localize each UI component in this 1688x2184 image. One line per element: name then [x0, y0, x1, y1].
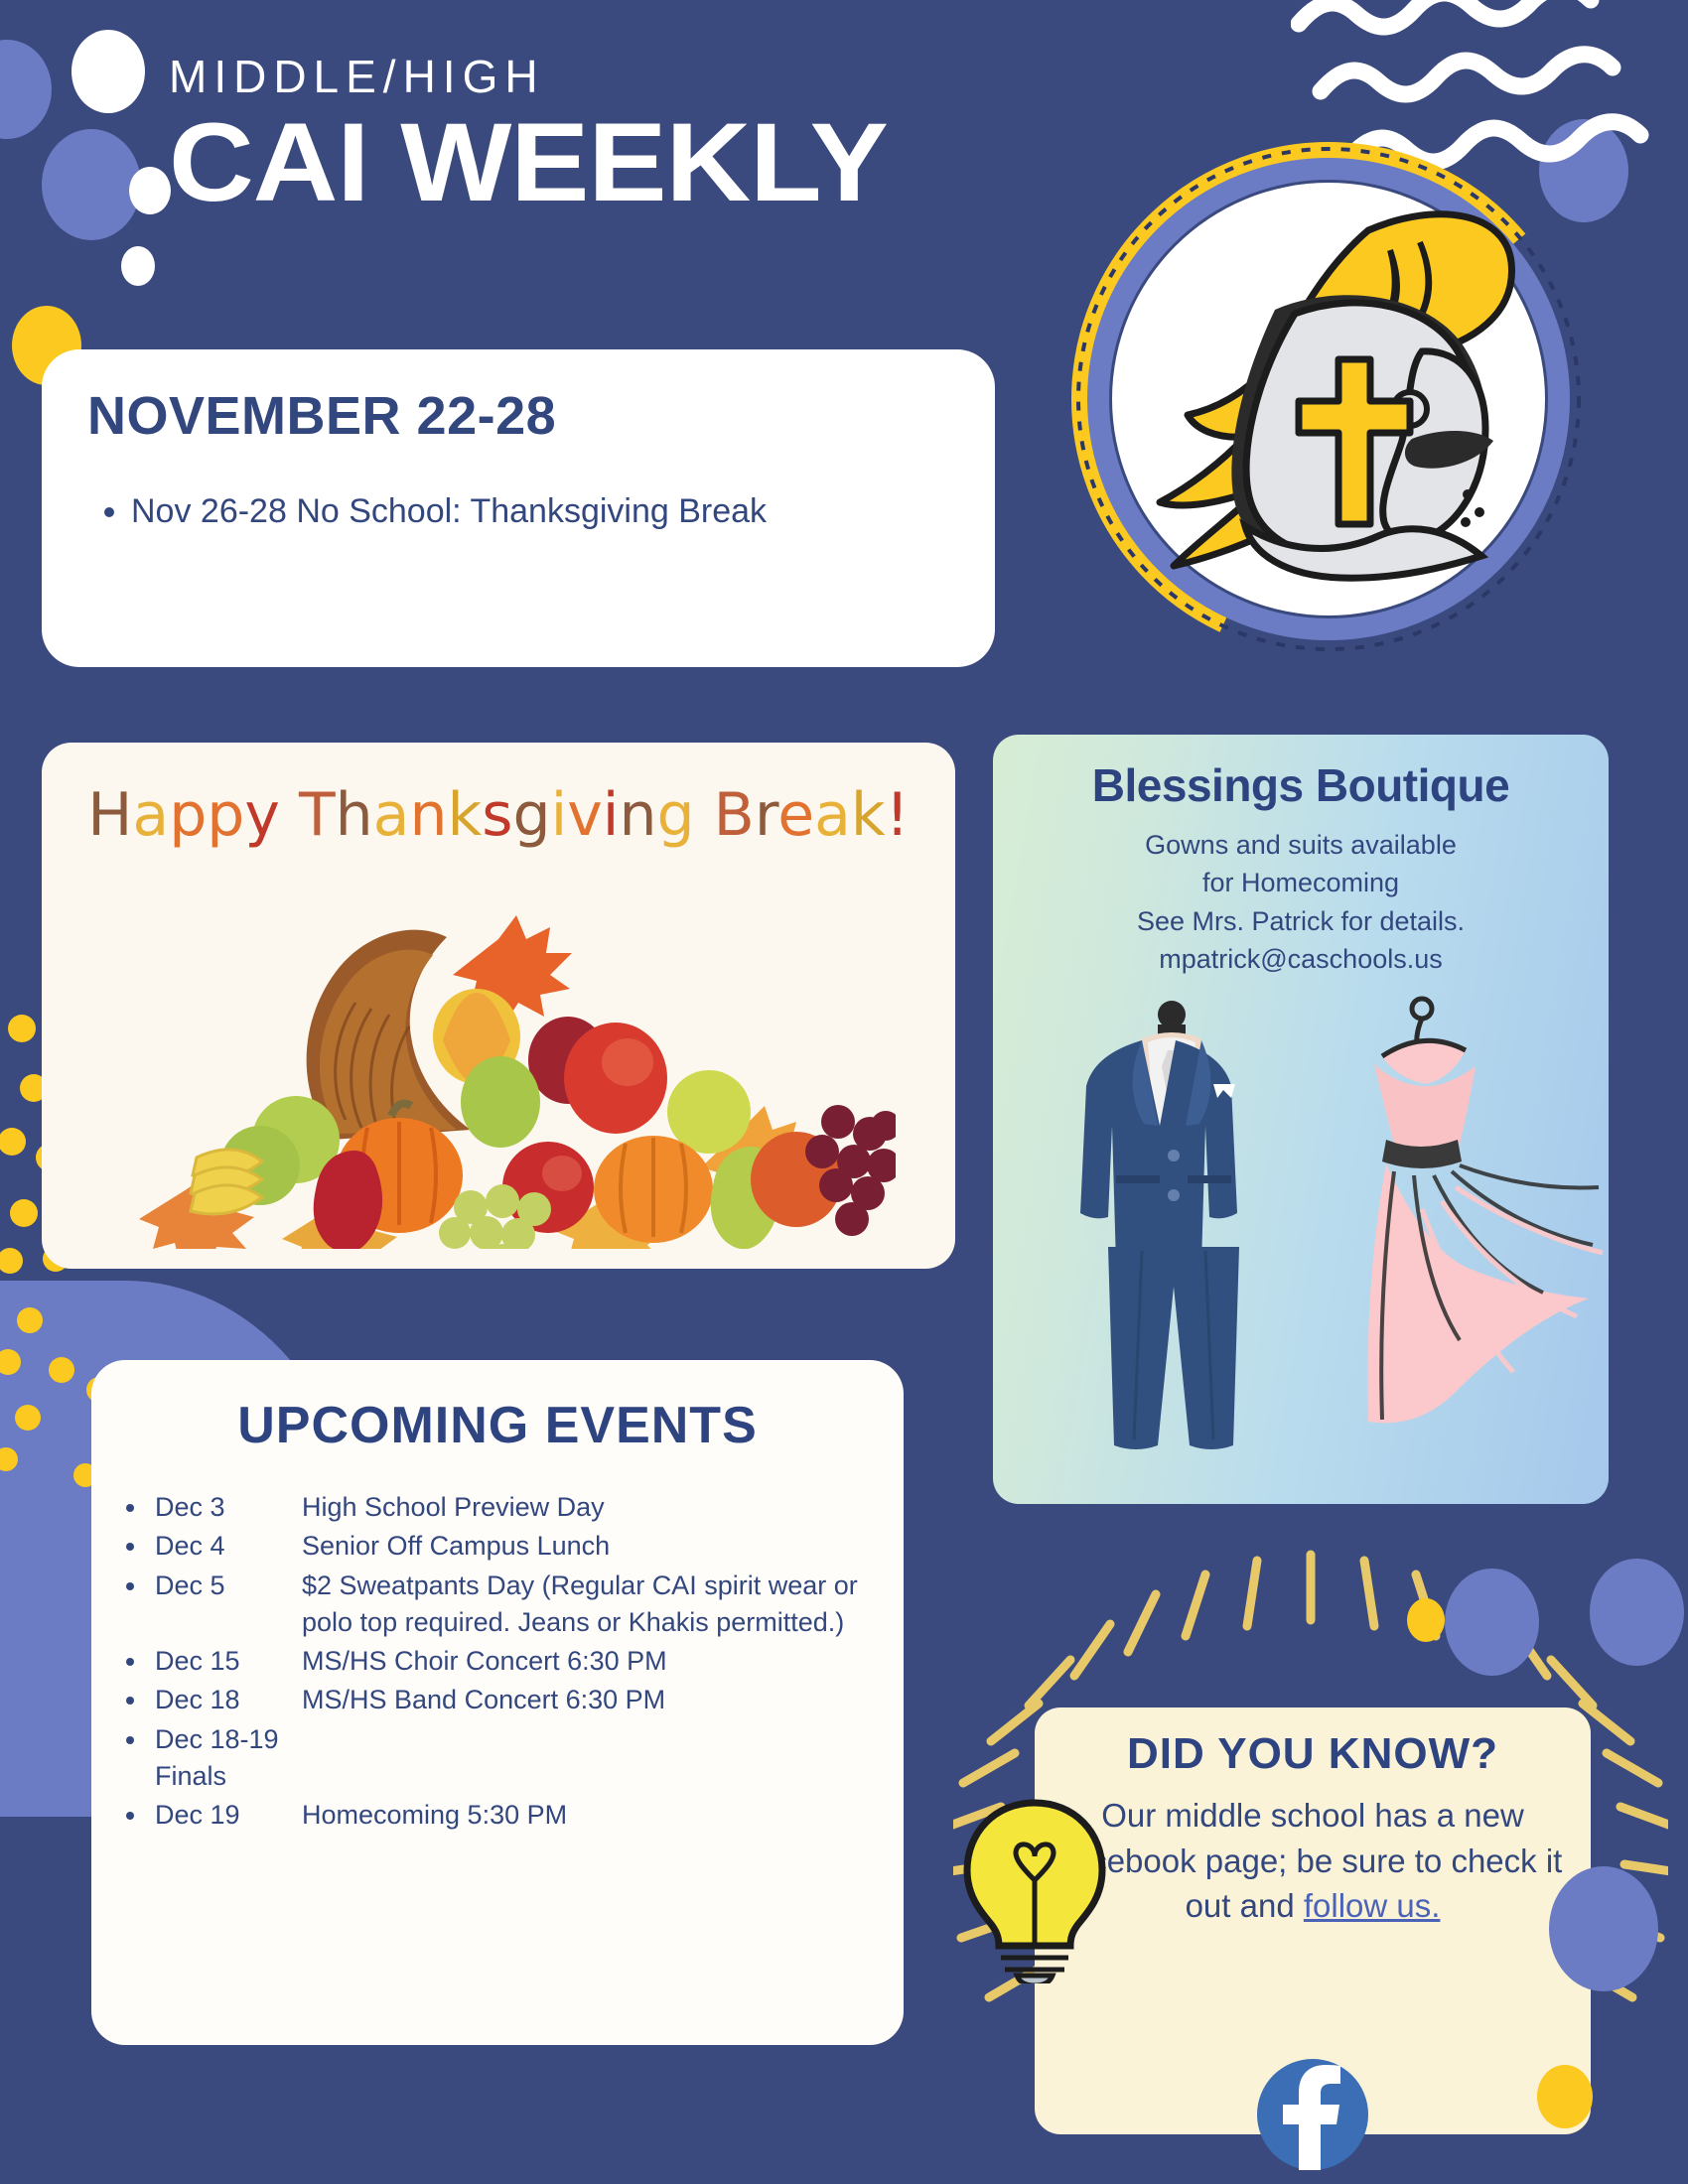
- event-description: [302, 1721, 904, 1796]
- greeting-letter: [695, 780, 714, 850]
- list-item: Dec 18MS/HS Band Concert 6:30 PM: [149, 1682, 904, 1718]
- greeting-letter: y: [244, 780, 280, 850]
- greeting-letter: v: [567, 780, 603, 850]
- event-description: MS/HS Choir Concert 6:30 PM: [302, 1643, 904, 1680]
- did-you-know-body: Our middle school has a new facebook pag…: [1035, 1793, 1591, 1929]
- date-card-list: Nov 26-28 No School: Thanksgiving Break: [131, 486, 949, 537]
- event-description: Homecoming 5:30 PM: [302, 1797, 904, 1834]
- greeting-letter: a: [132, 780, 169, 850]
- decorative-circle-periwinkle: [42, 129, 141, 240]
- list-item: Dec 4Senior Off Campus Lunch: [149, 1528, 904, 1565]
- decorative-circle-periwinkle: [0, 40, 52, 139]
- event-date: Dec 4: [155, 1528, 302, 1565]
- event-date: Dec 5: [155, 1568, 302, 1642]
- greeting-letter: e: [777, 780, 814, 850]
- list-item: Dec 3High School Preview Day: [149, 1489, 904, 1526]
- event-description: High School Preview Day: [302, 1489, 904, 1526]
- greeting-letter: [280, 780, 299, 850]
- upcoming-events-card: UPCOMING EVENTS Dec 3High School Preview…: [91, 1360, 904, 2045]
- facebook-icon[interactable]: [1257, 2059, 1368, 2170]
- list-item: Dec 18-19 Finals: [149, 1721, 904, 1796]
- list-item: Nov 26-28 No School: Thanksgiving Break: [131, 486, 949, 537]
- greeting-letter: g: [513, 780, 551, 850]
- event-date: Dec 18: [155, 1682, 302, 1718]
- suit-and-gown-illustration: [993, 981, 1609, 1477]
- lightbulb-icon: [955, 1795, 1114, 1983]
- did-you-know-section: DID YOU KNOW? Our middle school has a ne…: [1013, 1638, 1609, 2144]
- event-description: Senior Off Campus Lunch: [302, 1528, 904, 1565]
- greeting-letter: p: [169, 780, 207, 850]
- greeting-letter: !: [886, 780, 910, 850]
- kicker-text: MIDDLE/HIGH: [169, 50, 847, 103]
- greeting-letter: k: [851, 780, 886, 850]
- boutique-line: Gowns and suits available: [993, 826, 1609, 864]
- boutique-title: Blessings Boutique: [993, 758, 1609, 812]
- thanksgiving-greeting: Happy Thanksgiving Break!: [42, 780, 955, 850]
- decorative-circle-white: [71, 30, 145, 113]
- greeting-letter: a: [373, 780, 410, 850]
- date-card: NOVEMBER 22-28 Nov 26-28 No School: Than…: [42, 349, 995, 667]
- decorative-circle-white: [129, 167, 171, 214]
- greeting-letter: p: [207, 780, 244, 850]
- thanksgiving-card: Happy Thanksgiving Break!: [42, 743, 955, 1269]
- greeting-letter: n: [619, 780, 656, 850]
- boutique-card: Blessings Boutique Gowns and suits avail…: [993, 735, 1609, 1504]
- newsletter-page: MIDDLE/HIGH CAI WEEKLY: [0, 0, 1688, 2184]
- greeting-letter: s: [482, 780, 512, 850]
- events-title: UPCOMING EVENTS: [91, 1396, 904, 1455]
- knight-helmet-icon: [1041, 139, 1617, 655]
- page-title: CAI WEEKLY: [169, 109, 888, 216]
- list-item: Dec 15MS/HS Choir Concert 6:30 PM: [149, 1643, 904, 1680]
- event-description: MS/HS Band Concert 6:30 PM: [302, 1682, 904, 1718]
- event-date: Dec 3: [155, 1489, 302, 1526]
- greeting-letter: r: [755, 780, 777, 850]
- date-card-title: NOVEMBER 22-28: [87, 385, 949, 447]
- follow-us-link[interactable]: follow us.: [1304, 1887, 1441, 1924]
- boutique-details: Gowns and suits available for Homecoming…: [993, 826, 1609, 978]
- event-description: $2 Sweatpants Day (Regular CAI spirit we…: [302, 1568, 904, 1642]
- greeting-letter: a: [814, 780, 851, 850]
- greeting-letter: g: [656, 780, 694, 850]
- list-item: Dec 5$2 Sweatpants Day (Regular CAI spir…: [149, 1568, 904, 1642]
- greeting-letter: h: [336, 780, 373, 850]
- greeting-letter: B: [714, 780, 755, 850]
- masthead-block: MIDDLE/HIGH CAI WEEKLY: [169, 50, 847, 216]
- did-you-know-card: DID YOU KNOW? Our middle school has a ne…: [1035, 1707, 1591, 2134]
- event-date: Dec 19: [155, 1797, 302, 1834]
- greeting-letter: n: [409, 780, 447, 850]
- greeting-letter: k: [447, 780, 482, 850]
- event-date: Dec 18-19 Finals: [155, 1721, 302, 1796]
- events-list: Dec 3High School Preview DayDec 4Senior …: [149, 1489, 904, 1834]
- greeting-letter: T: [299, 780, 336, 850]
- greeting-letter: H: [87, 780, 132, 850]
- cornucopia-image: [101, 891, 896, 1249]
- boutique-email: mpatrick@caschools.us: [993, 940, 1609, 978]
- did-you-know-title: DID YOU KNOW?: [1035, 1729, 1591, 1779]
- list-item: Dec 19Homecoming 5:30 PM: [149, 1797, 904, 1834]
- greeting-letter: i: [551, 780, 568, 850]
- event-date: Dec 15: [155, 1643, 302, 1680]
- boutique-line: for Homecoming: [993, 864, 1609, 901]
- decorative-circle-white: [121, 246, 155, 286]
- greeting-letter: i: [603, 780, 620, 850]
- school-logo: [1041, 139, 1617, 655]
- boutique-line: See Mrs. Patrick for details.: [993, 902, 1609, 940]
